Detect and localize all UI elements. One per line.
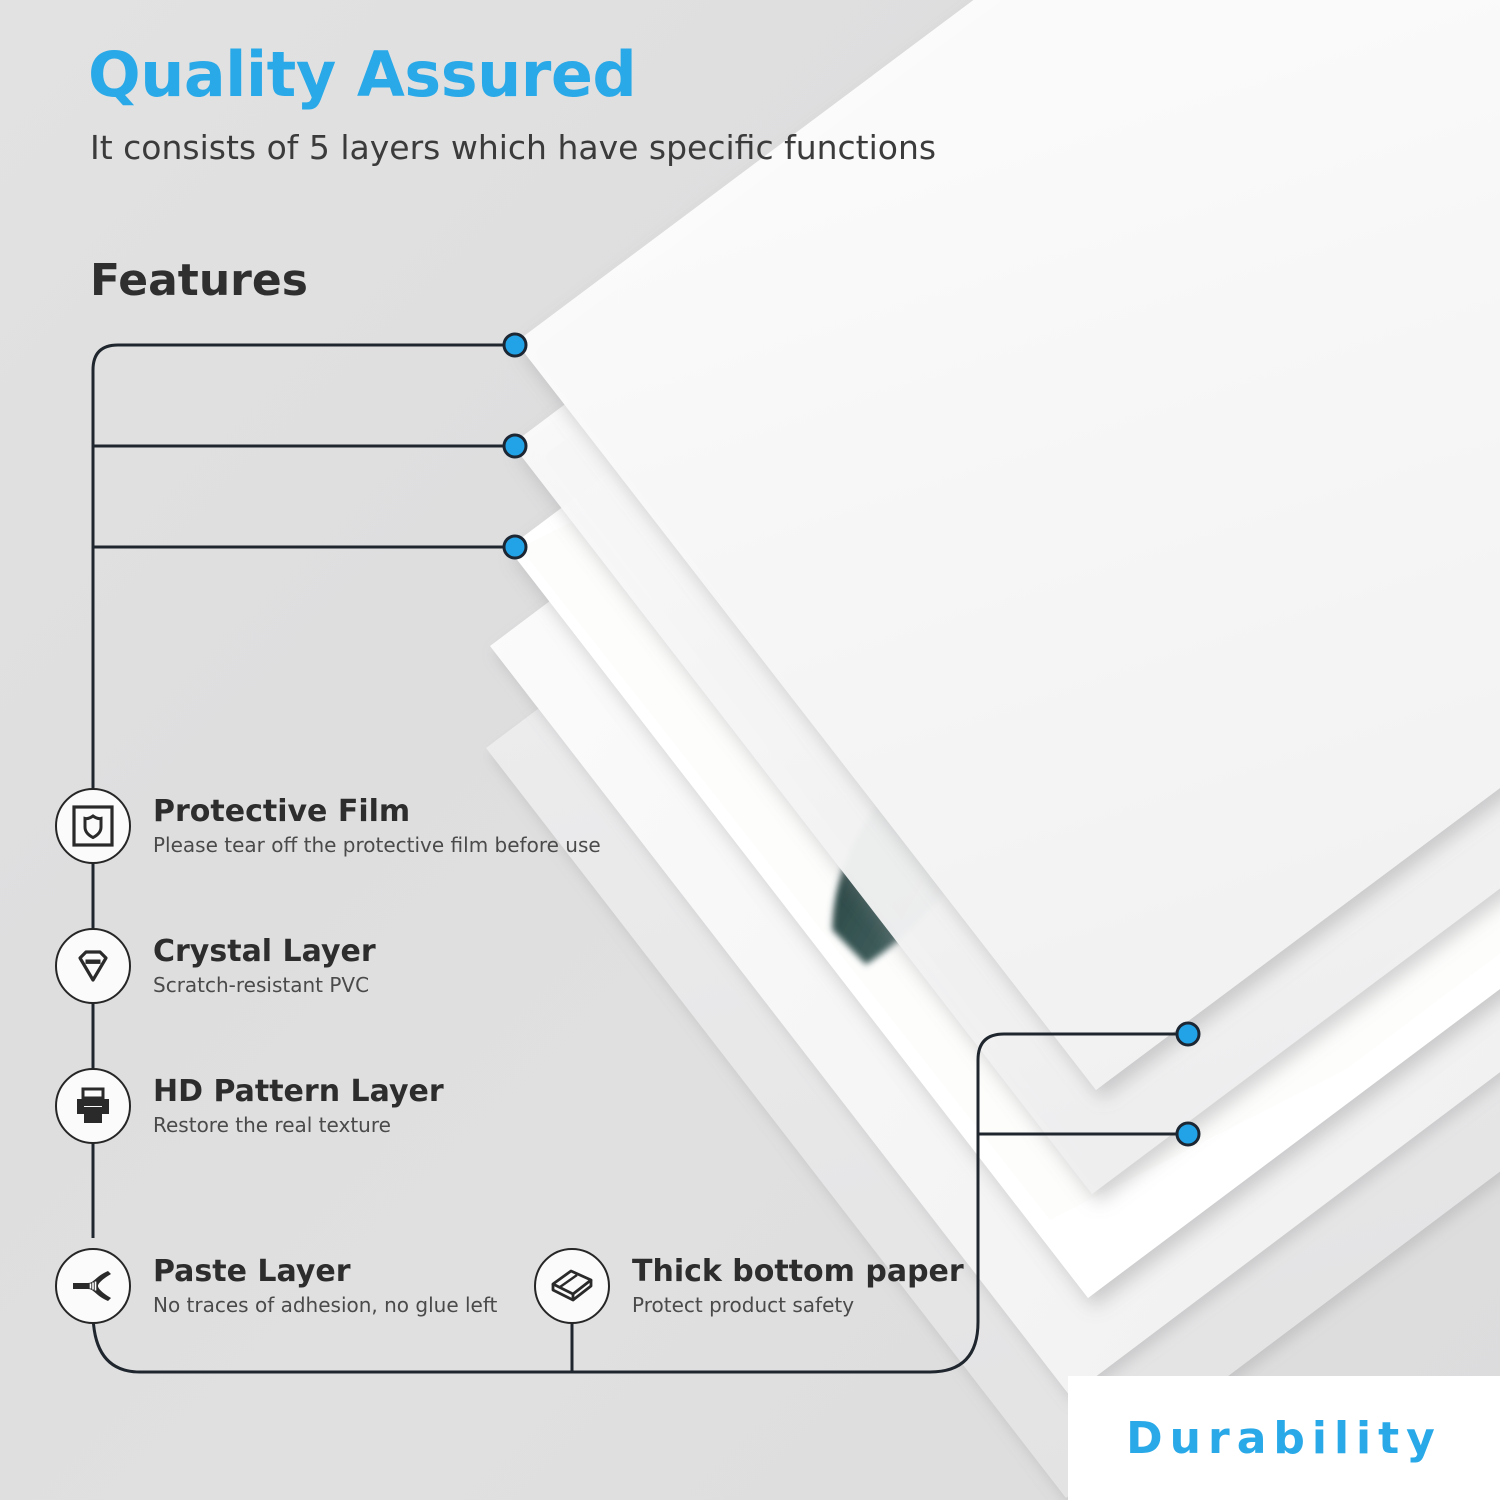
feature-item-paste-layer[interactable]: Paste Layer No traces of adhesion, no gl…: [55, 1248, 497, 1324]
feature-item-protective-film[interactable]: Protective Film Please tear off the prot…: [55, 788, 601, 864]
infographic-canvas: Quality Assured It consists of 5 layers …: [0, 0, 1500, 1500]
feature-item-thick-bottom-paper[interactable]: Thick bottom paper Protect product safet…: [534, 1248, 964, 1324]
feature-icon-badge: [534, 1248, 610, 1324]
printer-icon: [70, 1083, 116, 1129]
durability-label: Durability: [1126, 1413, 1442, 1464]
feature-item-hd-pattern-layer[interactable]: HD Pattern Layer Restore the real textur…: [55, 1068, 444, 1144]
feature-title: Paste Layer: [153, 1255, 497, 1290]
feature-icon-badge: [55, 928, 131, 1004]
page-title: Quality Assured: [88, 42, 636, 107]
shield-in-square-icon: [70, 803, 116, 849]
feature-text: HD Pattern Layer Restore the real textur…: [153, 1075, 444, 1137]
feature-icon-badge: [55, 1068, 131, 1144]
sheet-layer-4: [490, 0, 1500, 1396]
callout-dots: [504, 334, 1199, 1145]
callout-dot-3[interactable]: [504, 536, 526, 558]
connector-line-1: [93, 345, 515, 790]
sheet-layer-3-pattern: [484, 0, 1500, 1314]
callout-dot-4[interactable]: [1177, 1023, 1199, 1045]
feature-subtitle: Restore the real texture: [153, 1113, 444, 1137]
page-subtitle: It consists of 5 layers which have speci…: [90, 128, 936, 167]
sheet-layer-2-crystal: [512, 0, 1500, 1194]
feature-icon-badge: [55, 1248, 131, 1324]
features-heading: Features: [90, 255, 308, 306]
feature-subtitle: Please tear off the protective film befo…: [153, 833, 601, 857]
callout-dot-1[interactable]: [504, 334, 526, 356]
durability-badge-panel: Durability: [1068, 1376, 1500, 1500]
feature-title: HD Pattern Layer: [153, 1075, 444, 1110]
feature-title: Thick bottom paper: [632, 1255, 964, 1290]
feature-text: Paste Layer No traces of adhesion, no gl…: [153, 1255, 497, 1317]
feature-item-crystal-layer[interactable]: Crystal Layer Scratch-resistant PVC: [55, 928, 376, 1004]
feature-subtitle: Protect product safety: [632, 1293, 964, 1317]
feature-text: Thick bottom paper Protect product safet…: [632, 1255, 964, 1317]
peel-adhesive-icon: [70, 1263, 116, 1309]
diamond-gem-icon: [70, 943, 116, 989]
feature-title: Protective Film: [153, 795, 601, 830]
callout-dot-5[interactable]: [1177, 1123, 1199, 1145]
feature-text: Protective Film Please tear off the prot…: [153, 795, 601, 857]
feature-icon-badge: [55, 788, 131, 864]
feature-text: Crystal Layer Scratch-resistant PVC: [153, 935, 376, 997]
feature-subtitle: No traces of adhesion, no glue left: [153, 1293, 497, 1317]
connector-line-4: [978, 1034, 1188, 1142]
stacked-paper-icon: [549, 1263, 595, 1309]
feature-subtitle: Scratch-resistant PVC: [153, 973, 376, 997]
feature-title: Crystal Layer: [153, 935, 376, 970]
callout-dot-2[interactable]: [504, 435, 526, 457]
